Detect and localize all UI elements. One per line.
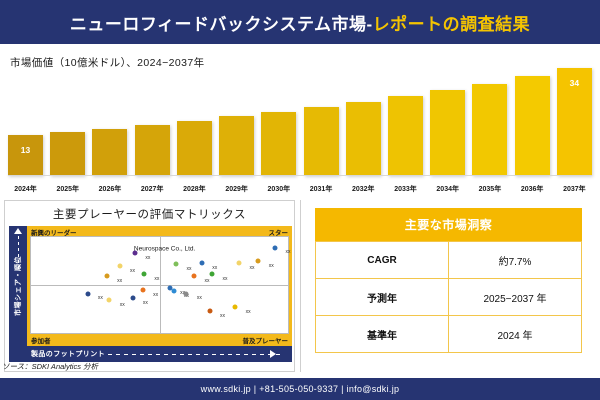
matrix-data-point (107, 298, 112, 303)
x-axis-tick-label: 2035年 (472, 184, 507, 194)
x-axis-tick-label: 2026年 (92, 184, 127, 194)
quadrant-divider-horizontal (31, 285, 288, 286)
bar (388, 96, 423, 176)
matrix-scatter-area: Neurospace Co., Ltd. xxxxxxxxxxxxxxxxxxx… (30, 236, 289, 334)
bar-column (472, 62, 507, 176)
bar (304, 107, 339, 176)
matrix-data-point (273, 245, 278, 250)
x-axis-tick-label: 2027年 (135, 184, 170, 194)
bar-column (388, 62, 423, 176)
matrix-data-point (133, 251, 138, 256)
page-title: ニューロフィードバックシステム市場-レポートの調査結果 (70, 10, 530, 35)
matrix-chart: 市場シェア・順位 新興のリーダー スター 参加者 普及プレーヤー Neurosp… (9, 226, 292, 346)
matrix-point-label: xx (246, 309, 251, 315)
bar-column (304, 62, 339, 176)
insights-row: CAGR約7.7% (316, 242, 582, 279)
matrix-data-point (140, 287, 145, 292)
bar (50, 132, 85, 176)
matrix-point-label: xx (205, 278, 210, 284)
key-insights-panel: 主要な市場洞察 CAGR約7.7%予測年2025−2037 年基準年2024 年 (300, 200, 596, 372)
matrix-x-axis: 製品のフットプリント (9, 346, 292, 362)
matrix-point-label: xx (117, 278, 122, 284)
matrix-data-point (237, 260, 242, 265)
matrix-y-axis: 市場シェア・順位 (9, 226, 27, 346)
infographic-page: ニューロフィードバックシステム市場-レポートの調査結果 市場価値（10億米ドル）… (0, 0, 600, 400)
matrix-point-label: xx (269, 263, 274, 269)
matrix-data-point (117, 263, 122, 268)
matrix-point-label: xx (143, 300, 148, 306)
insights-row-value: 2025−2037 年 (449, 279, 582, 316)
bar-column (92, 62, 127, 176)
bar (346, 102, 381, 176)
x-axis-tick-label: 2029年 (219, 184, 254, 194)
matrix-data-point (233, 305, 238, 310)
insights-row-value: 2024 年 (449, 316, 582, 353)
x-axis-tick-label: 2024年 (8, 184, 43, 194)
matrix-data-point (199, 260, 204, 265)
bar (135, 125, 170, 176)
matrix-data-point (184, 291, 189, 296)
matrix-point-label: xx (220, 313, 225, 319)
insights-row: 予測年2025−2037 年 (316, 279, 582, 316)
matrix-point-label: xx (154, 276, 159, 282)
bar-series: 1334 (8, 62, 592, 176)
matrix-point-label: xx (153, 292, 158, 298)
bar-column (346, 62, 381, 176)
x-axis-tick-label: 2025年 (50, 184, 85, 194)
quadrant-label-participant: 参加者 (31, 335, 51, 345)
bar (430, 90, 465, 176)
page-header: ニューロフィードバックシステム市場-レポートの調査結果 (0, 0, 600, 44)
matrix-point-label: xx (286, 249, 291, 255)
matrix-point-label: xx (197, 295, 202, 301)
matrix-data-point (85, 291, 90, 296)
x-axis-tick-label: 2036年 (515, 184, 550, 194)
key-insights-table: CAGR約7.7%予測年2025−2037 年基準年2024 年 (315, 241, 582, 353)
bar-column: 13 (8, 62, 43, 176)
bar-value-label: 13 (8, 145, 43, 155)
insights-row-key: 基準年 (316, 316, 449, 353)
matrix-point-label: xx (130, 268, 135, 274)
company-label-neurospace: Neurospace Co., Ltd. (134, 246, 195, 253)
matrix-x-axis-label: 製品のフットプリント (9, 349, 105, 359)
page-title-main: ニューロフィードバックシステム市場- (70, 15, 373, 34)
x-axis-tick-labels: 2024年2025年2026年2027年2028年2029年2030年2031年… (8, 184, 592, 194)
quadrant-label-pervasive-player: 普及プレーヤー (243, 335, 289, 345)
matrix-title: 主要プレーヤーの評価マトリックス (5, 201, 294, 222)
x-axis-tick-label: 2028年 (177, 184, 212, 194)
chart-plot-area: 1334 2024年2025年2026年2027年2028年2029年2030年… (8, 62, 592, 198)
bar-column (177, 62, 212, 176)
matrix-point-label: xx (250, 265, 255, 271)
bar: 34 (557, 68, 592, 176)
bar-column (261, 62, 296, 176)
bar (177, 121, 212, 176)
arrow-right-icon (270, 350, 276, 358)
x-axis-tick-label: 2037年 (557, 184, 592, 194)
source-note: ソース：SDKI Analytics 分析 (2, 361, 98, 372)
player-matrix-panel: 主要プレーヤーの評価マトリックス 市場シェア・順位 新興のリーダー スター 参加… (4, 200, 295, 372)
matrix-point-label: xx (120, 302, 125, 308)
arrow-up-icon (14, 228, 22, 234)
matrix-point-label: xx (98, 295, 103, 301)
x-axis-tick-label: 2030年 (261, 184, 296, 194)
page-footer: www.sdki.jp | +81-505-050-9337 | info@sd… (0, 378, 600, 400)
matrix-data-point (142, 272, 147, 277)
bar-column: 34 (557, 62, 592, 176)
bar-column (430, 62, 465, 176)
matrix-data-point (192, 274, 197, 279)
bar-column (219, 62, 254, 176)
matrix-quadrant-frame: 新興のリーダー スター 参加者 普及プレーヤー Neurospace Co., … (27, 226, 292, 346)
x-axis-tick-label: 2031年 (304, 184, 339, 194)
bar-column (515, 62, 550, 176)
matrix-point-label: xx (145, 255, 150, 261)
bar-value-label: 34 (557, 78, 592, 88)
key-insights-header: 主要な市場洞察 (315, 208, 582, 241)
bar-column (50, 62, 85, 176)
chart-baseline (8, 175, 592, 176)
matrix-data-point (207, 308, 212, 313)
footer-contact-text: www.sdki.jp | +81-505-050-9337 | info@sd… (201, 384, 400, 394)
insights-row-value: 約7.7% (449, 242, 582, 279)
x-axis-tick-label: 2032年 (346, 184, 381, 194)
matrix-data-point (104, 274, 109, 279)
matrix-y-axis-label: 市場シェア・順位 (13, 256, 23, 316)
market-value-bar-chart: 市場価値（10億米ドル）、2024−2037年 1334 2024年2025年2… (0, 44, 600, 198)
x-axis-tick-label: 2034年 (430, 184, 465, 194)
insights-row-key: CAGR (316, 242, 449, 279)
matrix-point-label: xx (212, 265, 217, 271)
matrix-point-label: xx (223, 276, 228, 282)
matrix-point-label: xx (187, 266, 192, 272)
matrix-data-point (210, 272, 215, 277)
matrix-data-point (130, 296, 135, 301)
matrix-data-point (256, 259, 261, 264)
bar (261, 112, 296, 176)
insights-row-key: 予測年 (316, 279, 449, 316)
insights-row: 基準年2024 年 (316, 316, 582, 353)
bar (472, 84, 507, 176)
matrix-data-point (174, 261, 179, 266)
matrix-data-point (167, 285, 172, 290)
bar: 13 (8, 135, 43, 176)
page-title-accent: レポートの調査結果 (373, 15, 531, 34)
bar-column (135, 62, 170, 176)
bar (92, 129, 127, 177)
bar (515, 76, 550, 176)
x-axis-tick-label: 2033年 (388, 184, 423, 194)
bar (219, 116, 254, 176)
dashed-line-horizontal (108, 354, 280, 355)
